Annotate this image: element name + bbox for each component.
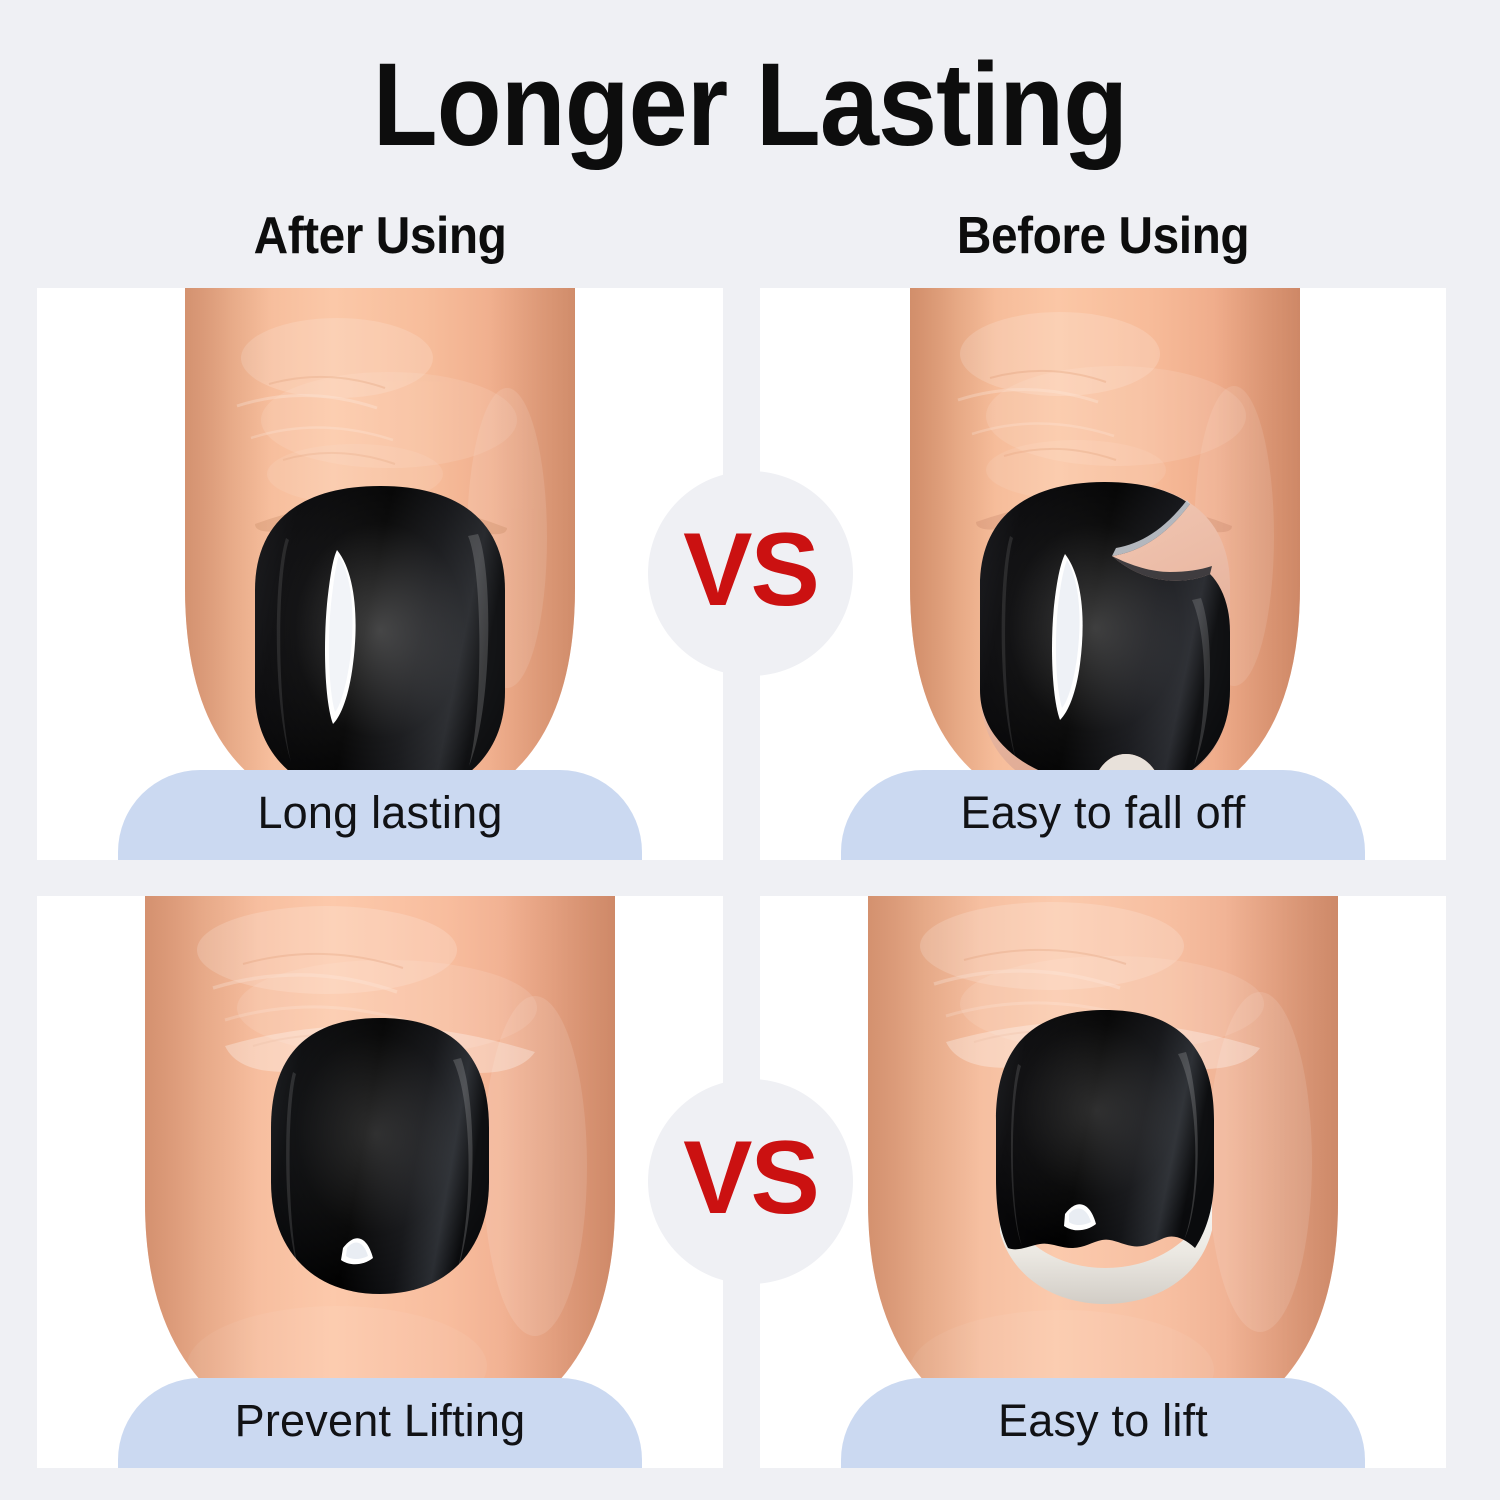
vs-badge-row1: VS [648,471,853,676]
vs-badge-row2: VS [648,1079,853,1284]
vs-label: VS [683,1126,818,1230]
column-heading-before: Before Using [787,206,1418,266]
vs-label: VS [683,518,818,622]
panel-row1-after: Long lasting [37,288,723,860]
caption-text: Long lasting [257,787,502,839]
page-title: Longer Lasting [75,46,1425,164]
caption-pill-easy-to-lift: Easy to lift [841,1378,1365,1468]
caption-pill-easy-to-fall-off: Easy to fall off [841,770,1365,860]
caption-pill-long-lasting: Long lasting [118,770,642,860]
caption-text: Easy to lift [998,1395,1208,1447]
comparison-infographic: Longer Lasting After Using Before Using [0,0,1500,1500]
panel-row2-after: Prevent Lifting [37,896,723,1468]
caption-text: Easy to fall off [960,787,1245,839]
panel-row2-before: Easy to lift [760,896,1446,1468]
column-heading-after: After Using [64,206,695,266]
caption-pill-prevent-lifting: Prevent Lifting [118,1378,642,1468]
caption-text: Prevent Lifting [235,1395,526,1447]
panel-row1-before: Easy to fall off [760,288,1446,860]
